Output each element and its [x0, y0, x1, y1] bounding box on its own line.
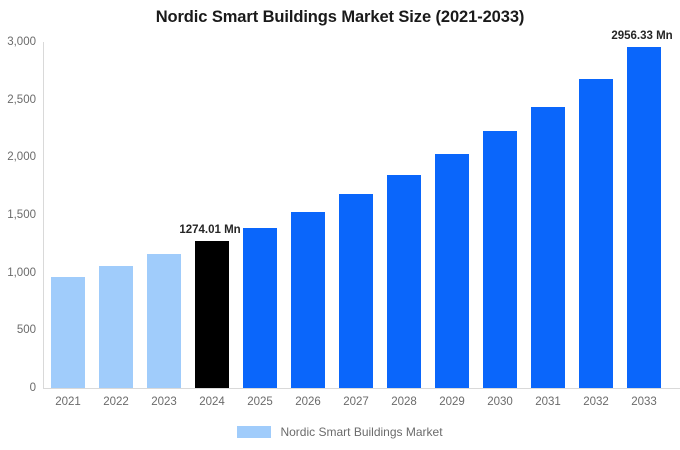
data-label-2024: 1274.01 Mn	[179, 224, 240, 236]
x-axis-tick-label-2021: 2021	[55, 396, 81, 408]
bar-2033[interactable]	[627, 47, 661, 388]
y-axis-tick-label: 3,000	[0, 36, 36, 48]
bar-2028[interactable]	[387, 175, 421, 388]
bar-2030[interactable]	[483, 131, 517, 388]
y-axis-tick-label: 500	[0, 324, 36, 336]
y-axis-tick-label: 2,000	[0, 151, 36, 163]
x-axis-tick-label-2028: 2028	[391, 396, 417, 408]
y-axis-tick-label: 1,500	[0, 209, 36, 221]
bar-2021[interactable]	[51, 277, 85, 388]
y-axis-tick-label: 2,500	[0, 94, 36, 106]
bar-2024[interactable]	[195, 241, 229, 388]
bar-2022[interactable]	[99, 266, 133, 388]
bar-2032[interactable]	[579, 79, 613, 388]
chart-legend: Nordic Smart Buildings Market	[0, 425, 680, 439]
y-axis-tick-label: 1,000	[0, 267, 36, 279]
bar-2023[interactable]	[147, 254, 181, 388]
legend-swatch	[237, 426, 271, 438]
x-axis-tick-label-2031: 2031	[535, 396, 561, 408]
bar-2031[interactable]	[531, 107, 565, 388]
x-axis-line	[43, 388, 680, 389]
x-axis-tick-label-2024: 2024	[199, 396, 225, 408]
bar-2025[interactable]	[243, 228, 277, 388]
x-axis-tick-label-2027: 2027	[343, 396, 369, 408]
legend-label[interactable]: Nordic Smart Buildings Market	[280, 425, 442, 439]
bar-2029[interactable]	[435, 154, 469, 388]
bars-container	[43, 42, 680, 388]
x-axis-tick-label-2029: 2029	[439, 396, 465, 408]
x-axis-tick-label-2030: 2030	[487, 396, 513, 408]
x-axis-tick-label-2026: 2026	[295, 396, 321, 408]
x-axis-tick-label-2033: 2033	[631, 396, 657, 408]
x-axis-tick-label-2023: 2023	[151, 396, 177, 408]
bar-2026[interactable]	[291, 212, 325, 388]
x-axis-tick-label-2022: 2022	[103, 396, 129, 408]
x-axis-tick-label-2032: 2032	[583, 396, 609, 408]
bar-2027[interactable]	[339, 194, 373, 388]
bar-chart: Nordic Smart Buildings Market Size (2021…	[0, 0, 680, 450]
data-label-2033: 2956.33 Mn	[611, 30, 672, 42]
y-axis-tick-label: 0	[0, 382, 36, 394]
x-axis-tick-label-2025: 2025	[247, 396, 273, 408]
